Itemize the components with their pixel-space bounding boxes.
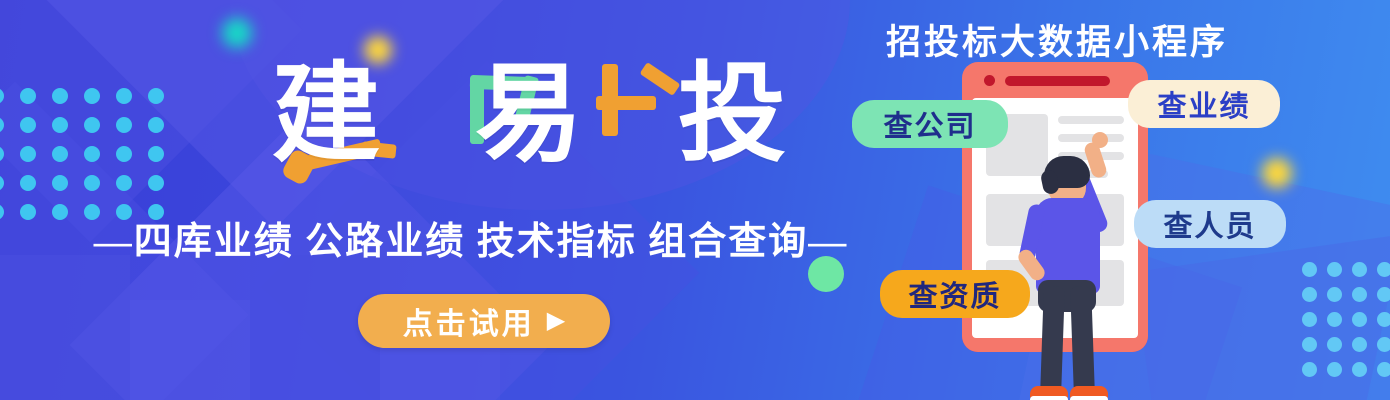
person-raised-hand: [1092, 132, 1108, 148]
dot-grid-right: [1302, 262, 1390, 387]
title-bar-placeholder: [1005, 76, 1110, 86]
person-figure: [1022, 148, 1132, 400]
yellow-glow-dot-right: [1262, 158, 1292, 188]
try-now-button[interactable]: 点击试用 ▶: [358, 294, 610, 348]
try-now-button-label: 点击试用: [403, 299, 535, 343]
play-arrow-icon: ▶: [547, 309, 565, 333]
banner-subtitle: —四库业绩 公路业绩 技术指标 组合查询—: [86, 210, 856, 265]
person-right-leg: [1070, 286, 1095, 395]
promo-banner: 建 易 投 —四库业绩 公路业绩 技术指标 组合查询— 点击试用 ▶ 招投标大数…: [0, 0, 1390, 400]
feature-tag-personnel[interactable]: 查人员: [1134, 200, 1286, 248]
left-content: 建 易 投 —四库业绩 公路业绩 技术指标 组合查询— 点击试用 ▶: [0, 0, 880, 400]
feature-tag-qualification[interactable]: 查资质: [880, 270, 1030, 318]
person-left-leg: [1040, 286, 1065, 395]
phone-header-bar: [962, 62, 1148, 98]
feature-tag-company[interactable]: 查公司: [852, 100, 1008, 148]
content-line-2: [1058, 134, 1124, 142]
content-line-1: [1058, 116, 1124, 124]
brand-title: 建 易 投: [272, 62, 820, 170]
person-left-sole: [1030, 396, 1068, 400]
notification-dot-icon: [984, 75, 995, 86]
person-right-sole: [1070, 396, 1108, 400]
feature-tag-performance[interactable]: 查业绩: [1128, 80, 1280, 128]
